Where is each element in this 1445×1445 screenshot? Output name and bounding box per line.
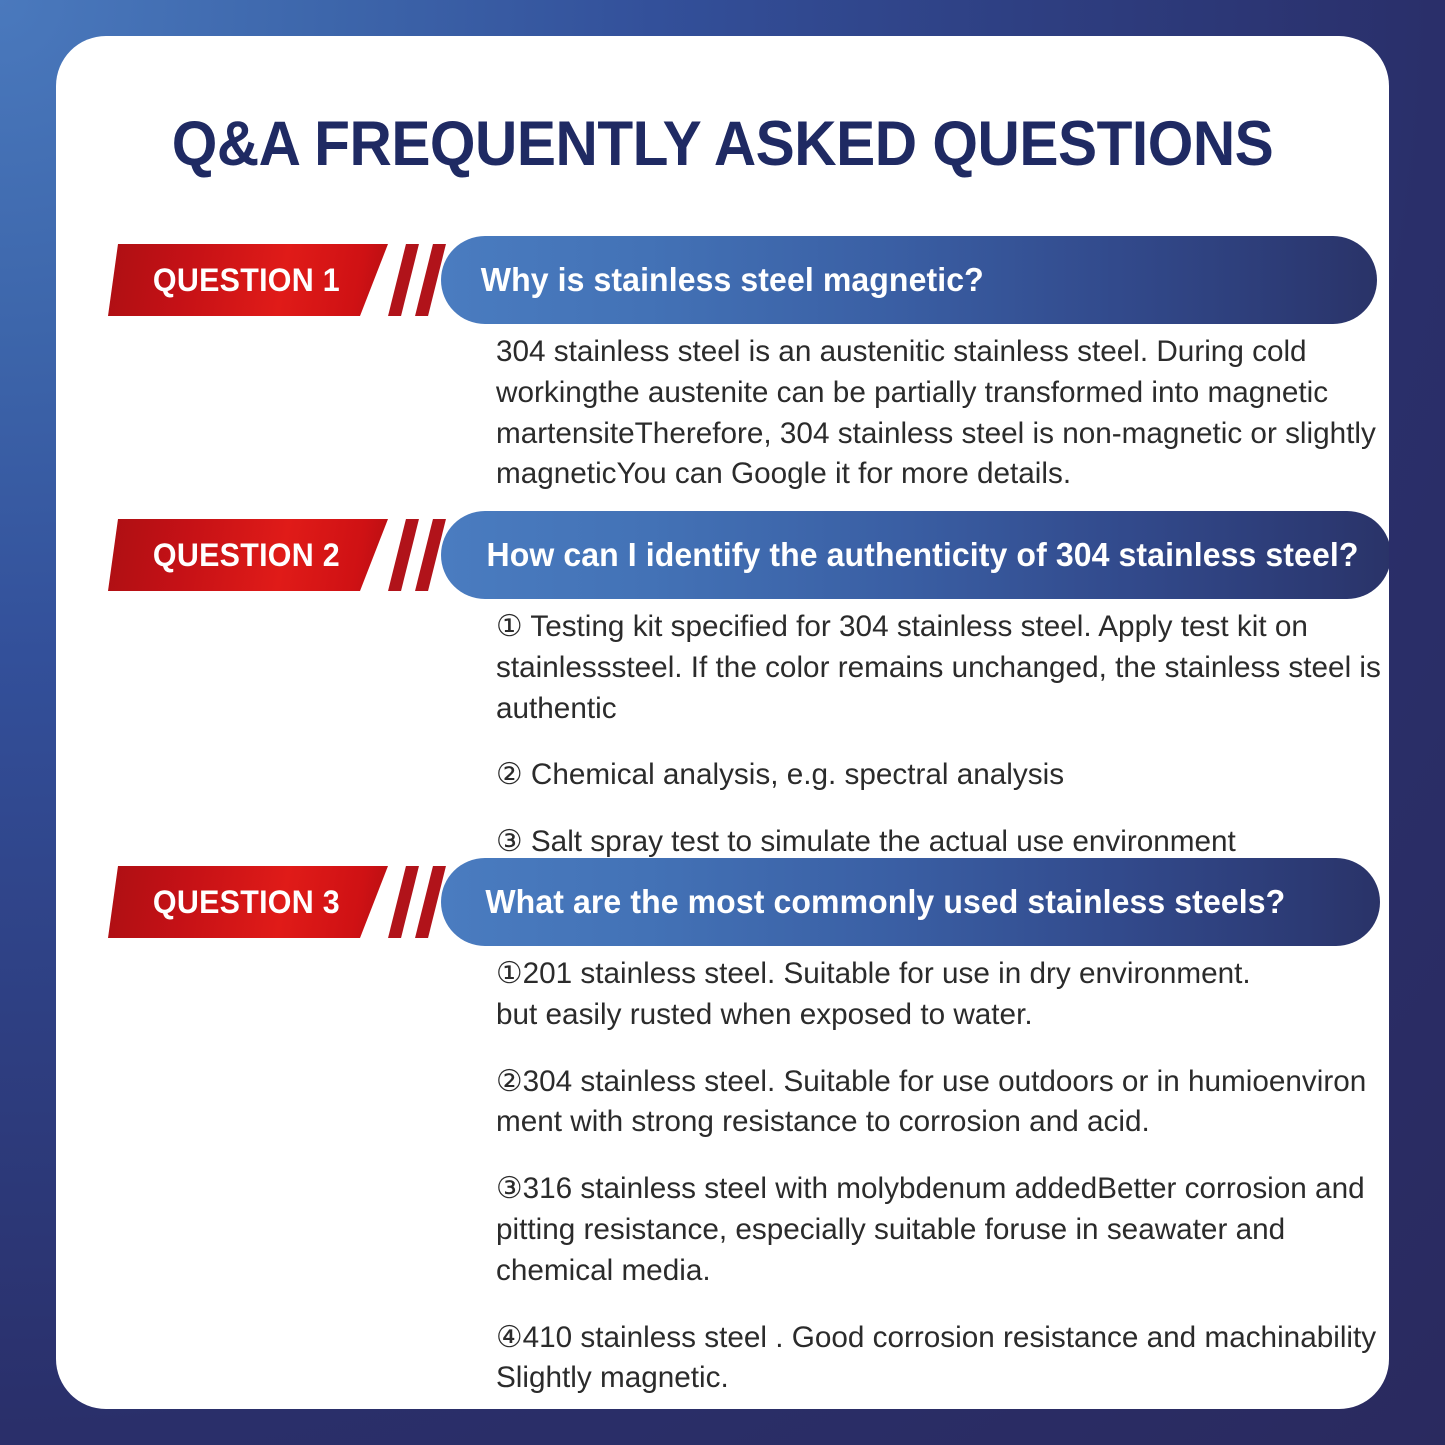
faq-block-1: QUESTION 1 Why is stainless steel magnet… bbox=[56, 236, 1389, 324]
answer-paragraph: ③ Salt spray test to simulate the actual… bbox=[496, 822, 1387, 863]
faq-block-3: QUESTION 3 What are the most commonly us… bbox=[56, 858, 1389, 946]
answer-paragraph: ③316 stainless steel with molybdenum add… bbox=[496, 1169, 1387, 1291]
question-tag-label-3: QUESTION 3 bbox=[153, 884, 340, 921]
page-title: Q&A FREQUENTLY ASKED QUESTIONS bbox=[103, 108, 1343, 180]
faq-banner-row-2: QUESTION 2 How can I identify the authen… bbox=[56, 511, 1389, 599]
faq-banner-row-1: QUESTION 1 Why is stainless steel magnet… bbox=[56, 236, 1389, 324]
question-tag-1[interactable]: QUESTION 1 bbox=[108, 244, 388, 316]
faq-card: Q&A FREQUENTLY ASKED QUESTIONS QUESTION … bbox=[56, 36, 1389, 1409]
question-pill-2[interactable]: How can I identify the authenticity of 3… bbox=[441, 511, 1389, 599]
answer-paragraph: ② Chemical analysis, e.g. spectral analy… bbox=[496, 755, 1387, 796]
question-tag-2[interactable]: QUESTION 2 bbox=[108, 519, 388, 591]
question-text-1: Why is stainless steel magnetic? bbox=[481, 261, 984, 299]
slash-mark-icon bbox=[388, 519, 419, 591]
faq-block-2: QUESTION 2 How can I identify the authen… bbox=[56, 511, 1389, 599]
answer-paragraph: ②304 stainless steel. Suitable for use o… bbox=[496, 1062, 1387, 1144]
question-tag-3[interactable]: QUESTION 3 bbox=[108, 866, 388, 938]
question-pill-3[interactable]: What are the most commonly used stainles… bbox=[441, 858, 1380, 946]
answer-body-1: 304 stainless steel is an austenitic sta… bbox=[496, 332, 1389, 495]
answer-paragraph: 304 stainless steel is an austenitic sta… bbox=[496, 332, 1387, 495]
answer-paragraph: ① Testing kit specified for 304 stainles… bbox=[496, 607, 1387, 729]
faq-banner-row-3: QUESTION 3 What are the most commonly us… bbox=[56, 858, 1389, 946]
question-tag-label-1: QUESTION 1 bbox=[153, 262, 340, 299]
question-text-3: What are the most commonly used stainles… bbox=[485, 883, 1285, 921]
question-tag-label-2: QUESTION 2 bbox=[153, 537, 340, 574]
answer-paragraph: ①201 stainless steel. Suitable for use i… bbox=[496, 954, 1387, 1036]
question-text-2: How can I identify the authenticity of 3… bbox=[486, 536, 1358, 574]
slash-mark-icon bbox=[388, 244, 419, 316]
answer-body-3: ①201 stainless steel. Suitable for use i… bbox=[496, 954, 1389, 1399]
answer-paragraph: ④410 stainless steel . Good corrosion re… bbox=[496, 1318, 1387, 1400]
slash-mark-icon bbox=[388, 866, 419, 938]
question-pill-1[interactable]: Why is stainless steel magnetic? bbox=[441, 236, 1377, 324]
answer-body-2: ① Testing kit specified for 304 stainles… bbox=[496, 607, 1389, 863]
